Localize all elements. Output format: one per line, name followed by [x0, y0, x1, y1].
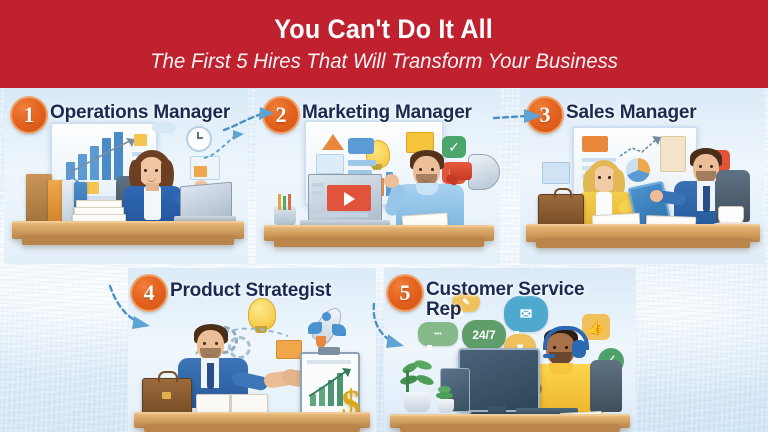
eye: [598, 176, 601, 179]
sticky-note-icon: [86, 182, 99, 194]
eye: [608, 176, 611, 179]
cloud-icon: [152, 122, 176, 133]
pencil-cup: [272, 194, 298, 224]
arrow-4-to-5-icon: [368, 300, 428, 358]
hand: [384, 174, 399, 188]
desk-front: [274, 237, 484, 247]
office-chair: [590, 360, 622, 412]
eye: [203, 342, 206, 345]
eye: [144, 169, 147, 172]
card-label-sales-manager: Sales Manager: [566, 103, 761, 122]
desk-front: [400, 424, 620, 432]
briefcase-handle: [158, 371, 178, 382]
header-banner: You Can't Do It All The First 5 Hires Th…: [0, 0, 768, 88]
briefcase: [538, 194, 584, 228]
badge-number-1: 1: [12, 98, 46, 132]
card-label-operations-manager: Operations Manager: [50, 103, 245, 122]
sticky-note-icon: [134, 134, 147, 146]
video-thumbnail: [582, 136, 608, 152]
headset-earcup: [572, 340, 586, 358]
card-product-strategist[interactable]: $ 4 Product Strategist: [128, 268, 376, 432]
eye: [419, 168, 422, 171]
eye: [710, 165, 713, 168]
necktie: [207, 363, 214, 389]
neck: [146, 183, 159, 191]
shirt: [144, 186, 161, 220]
book-spine: [229, 394, 232, 414]
chat-bubble-icon: [348, 160, 376, 166]
infographic-canvas: You Can't Do It All The First 5 Hires Th…: [0, 0, 768, 432]
desk-front: [22, 235, 234, 245]
arrow-2-to-3-icon: [492, 104, 548, 134]
arrow-1-to-2-icon: [222, 104, 278, 138]
page-title: You Can't Do It All: [275, 15, 494, 43]
24-7-badge: 24/7: [462, 320, 506, 350]
hand: [650, 190, 663, 202]
laptop-video-player: [308, 174, 382, 224]
chat-bubble-icon: [348, 138, 374, 154]
document-icon: [316, 154, 344, 174]
briefcase-latch: [162, 392, 171, 399]
arrow-3-to-4-icon: [104, 278, 164, 338]
desktop-monitor: [458, 348, 540, 412]
card-label-product-strategist: Product Strategist: [170, 281, 375, 300]
megaphone-icon: [446, 152, 498, 192]
potted-plant-small: [434, 386, 458, 414]
eye: [215, 342, 218, 345]
upward-trend-icon: [618, 134, 664, 160]
photo-icon: [542, 162, 570, 184]
collar: [549, 363, 573, 375]
triangle-icon: [322, 134, 344, 150]
eye: [431, 168, 434, 171]
card-marketing-manager[interactable]: ✓ ▶: [256, 88, 500, 264]
desk-front: [536, 238, 750, 248]
eye: [155, 169, 158, 172]
rocket-icon: [306, 302, 352, 348]
eye: [699, 165, 702, 168]
collar: [416, 183, 438, 195]
card-label-marketing-manager: Marketing Manager: [302, 103, 497, 122]
briefcase-handle: [554, 188, 572, 198]
card-sales-manager[interactable]: ▶: [520, 88, 764, 264]
headset-mic: [543, 354, 555, 358]
potted-plant: [398, 364, 438, 414]
card-operations-manager[interactable]: 1 Operations Manager: [4, 88, 248, 264]
page-subtitle: The First 5 Hires That Will Transform Yo…: [150, 50, 618, 73]
necktie: [703, 186, 710, 212]
desk-front: [144, 424, 360, 432]
card-label-customer-service-rep: Customer Service Rep: [426, 280, 594, 320]
